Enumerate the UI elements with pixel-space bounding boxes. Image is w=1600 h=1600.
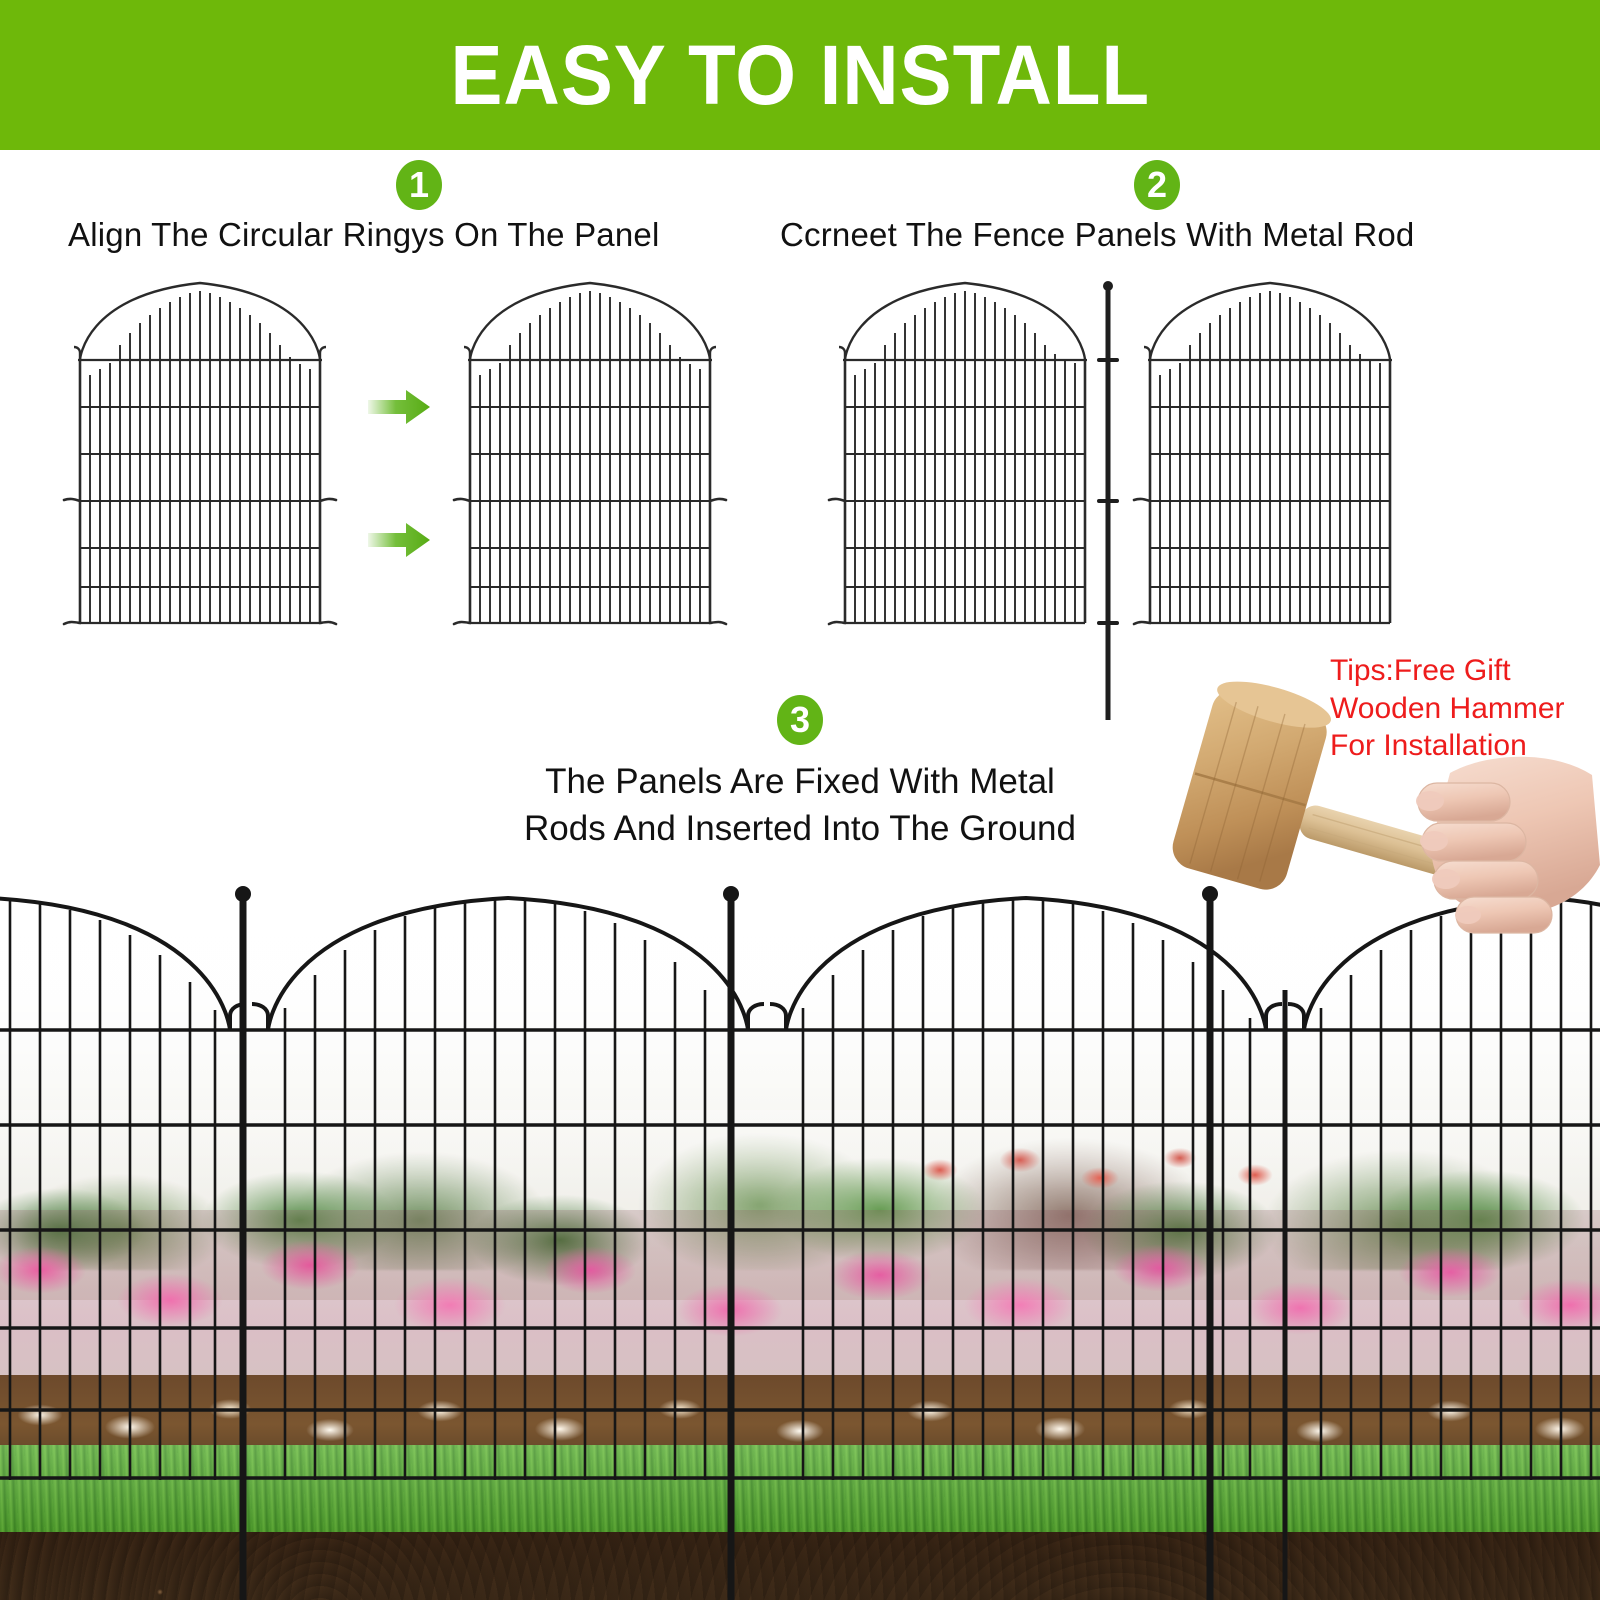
hand-icon <box>1416 757 1600 933</box>
step1-diagram <box>50 265 780 645</box>
step-badge-1: 1 <box>396 160 442 210</box>
fence-panel-right <box>454 283 726 624</box>
fence-panel-joined-right <box>1134 283 1392 624</box>
arrow-right-icon-2 <box>368 523 430 557</box>
step-caption-1: Align The Circular Ringys On The Panel <box>68 216 660 254</box>
step-badge-3: 3 <box>777 695 823 745</box>
installed-fence-photo <box>0 880 1600 1600</box>
fence-panel-photo-b <box>252 898 764 1480</box>
metal-rod-icon <box>1099 281 1117 720</box>
fence-post <box>235 886 251 1600</box>
step-badge-2: 2 <box>1134 160 1180 210</box>
page-title: EASY TO INSTALL <box>450 33 1150 117</box>
fence-panel-left <box>64 283 336 624</box>
step-caption-3-line1: The Panels Are Fixed With Metal <box>420 758 1180 805</box>
fence-posts <box>235 886 1285 1600</box>
step2-diagram <box>825 250 1525 720</box>
hammer-and-hand <box>1150 655 1600 945</box>
step-caption-3: The Panels Are Fixed With Metal Rods And… <box>420 758 1180 853</box>
fence-post <box>1202 886 1218 1600</box>
fence-panel-photo-a <box>0 898 246 1480</box>
fence-panel-joined-left <box>829 283 1087 624</box>
step-caption-2: Ccrneet The Fence Panels With Metal Rod <box>780 216 1414 254</box>
fence-panel-photo-d <box>1288 898 1600 1480</box>
arrow-right-icon-1 <box>368 390 430 424</box>
header-band: EASY TO INSTALL <box>0 0 1600 150</box>
fence-post <box>723 886 739 1600</box>
step-badge-2-number: 2 <box>1147 167 1167 203</box>
fence-panel-photo-c <box>770 898 1282 1480</box>
step-badge-1-number: 1 <box>409 167 429 203</box>
hammer-head <box>1167 672 1335 895</box>
infographic-page: EASY TO INSTALL 1 Align The Circular Rin… <box>0 0 1600 1600</box>
step-caption-3-line2: Rods And Inserted Into The Ground <box>420 805 1180 852</box>
photo-fence-overlay <box>0 880 1600 1600</box>
step-badge-3-number: 3 <box>790 702 810 738</box>
